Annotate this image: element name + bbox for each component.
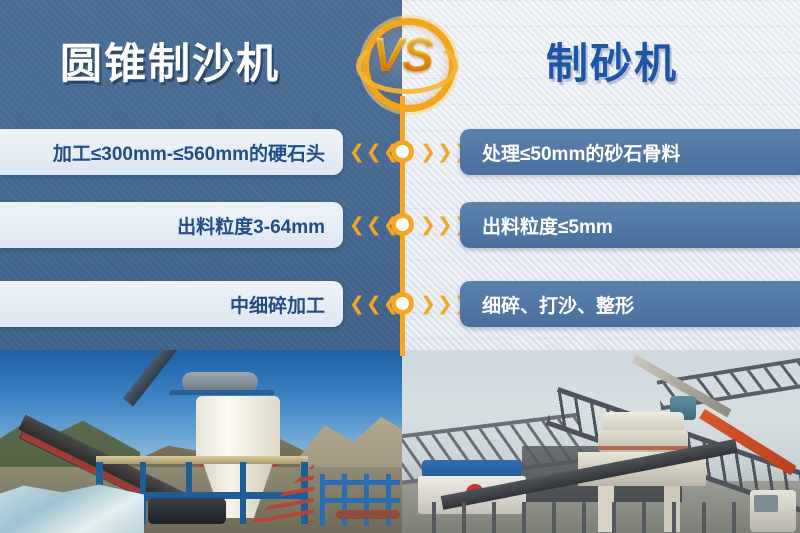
left-machine-title: 圆锥制沙机 xyxy=(0,30,340,91)
vs-badge-label: VS xyxy=(350,28,454,83)
chevron-left-icon: ❮ xyxy=(366,295,382,314)
left-photo-motor xyxy=(148,498,226,524)
right-photo-vsi-top xyxy=(602,412,684,432)
chevron-left-icon: ❮ xyxy=(349,295,365,314)
chevron-right-icon: ❯ xyxy=(437,216,453,235)
chevron-left-icon: ❮ xyxy=(383,216,399,235)
chevron-left-icon: ❮ xyxy=(366,216,382,235)
right-feature-text: 出料粒度≤5mm xyxy=(482,212,613,239)
right-feature-pill[interactable]: 细碎、打沙、整形 xyxy=(460,281,800,327)
chevrons-left: ❮ ❮ ❮ xyxy=(349,129,399,175)
left-photo-cone-crusher-body xyxy=(196,396,280,462)
left-photo-frame-leg-3 xyxy=(240,462,246,524)
left-feature-pill[interactable]: 出料粒度3-64mm xyxy=(0,202,343,248)
right-photo-support-legs xyxy=(432,502,762,533)
comparison-row: 加工≤300mm-≤560mm的硬石头 ❮ ❮ ❮ ❯ ❯ ❯ 处理≤50mm的… xyxy=(0,129,800,175)
comparison-row: 中细碎加工 ❮ ❮ ❮ ❯ ❯ ❯ 细碎、打沙、整形 xyxy=(0,281,800,327)
right-feature-pill[interactable]: 出料粒度≤5mm xyxy=(460,202,800,248)
chevrons-left: ❮ ❮ ❮ xyxy=(349,202,399,248)
left-photo-pipe xyxy=(336,510,400,519)
chevron-right-icon: ❯ xyxy=(437,143,453,162)
left-feature-text: 加工≤300mm-≤560mm的硬石头 xyxy=(53,139,325,166)
right-feature-text: 细碎、打沙、整形 xyxy=(482,291,634,318)
chevron-right-icon: ❯ xyxy=(420,295,436,314)
left-feature-pill[interactable]: 中细碎加工 xyxy=(0,281,343,327)
right-feature-text: 处理≤50mm的砂石骨料 xyxy=(482,139,680,166)
chevron-right-icon: ❯ xyxy=(437,295,453,314)
chevron-left-icon: ❮ xyxy=(366,143,382,162)
right-photo-vsi-band xyxy=(598,446,688,450)
right-product-photo xyxy=(402,350,800,533)
comparison-row: 出料粒度3-64mm ❮ ❮ ❮ ❯ ❯ ❯ 出料粒度≤5mm xyxy=(0,202,800,248)
left-feature-text: 出料粒度3-64mm xyxy=(177,212,325,239)
chevron-right-icon: ❯ xyxy=(420,143,436,162)
chevron-right-icon: ❯ xyxy=(420,216,436,235)
right-machine-title: 制砂机 xyxy=(462,30,762,91)
left-photo-drum-frame xyxy=(170,390,274,395)
comparison-banner: 圆锥制沙机 制砂机 VS 加工≤300mm-≤560mm的硬石头 ❮ ❮ ❮ ❯… xyxy=(0,0,800,533)
chevron-left-icon: ❮ xyxy=(383,295,399,314)
chevron-left-icon: ❮ xyxy=(349,216,365,235)
chevrons-left: ❮ ❮ ❮ xyxy=(349,281,399,327)
left-photo-drum xyxy=(182,372,258,392)
chevron-left-icon: ❮ xyxy=(383,143,399,162)
chevron-left-icon: ❮ xyxy=(349,143,365,162)
left-product-photo xyxy=(0,350,402,533)
left-feature-text: 中细碎加工 xyxy=(230,291,325,318)
left-feature-pill[interactable]: 加工≤300mm-≤560mm的硬石头 xyxy=(0,129,343,175)
right-feature-pill[interactable]: 处理≤50mm的砂石骨料 xyxy=(460,129,800,175)
